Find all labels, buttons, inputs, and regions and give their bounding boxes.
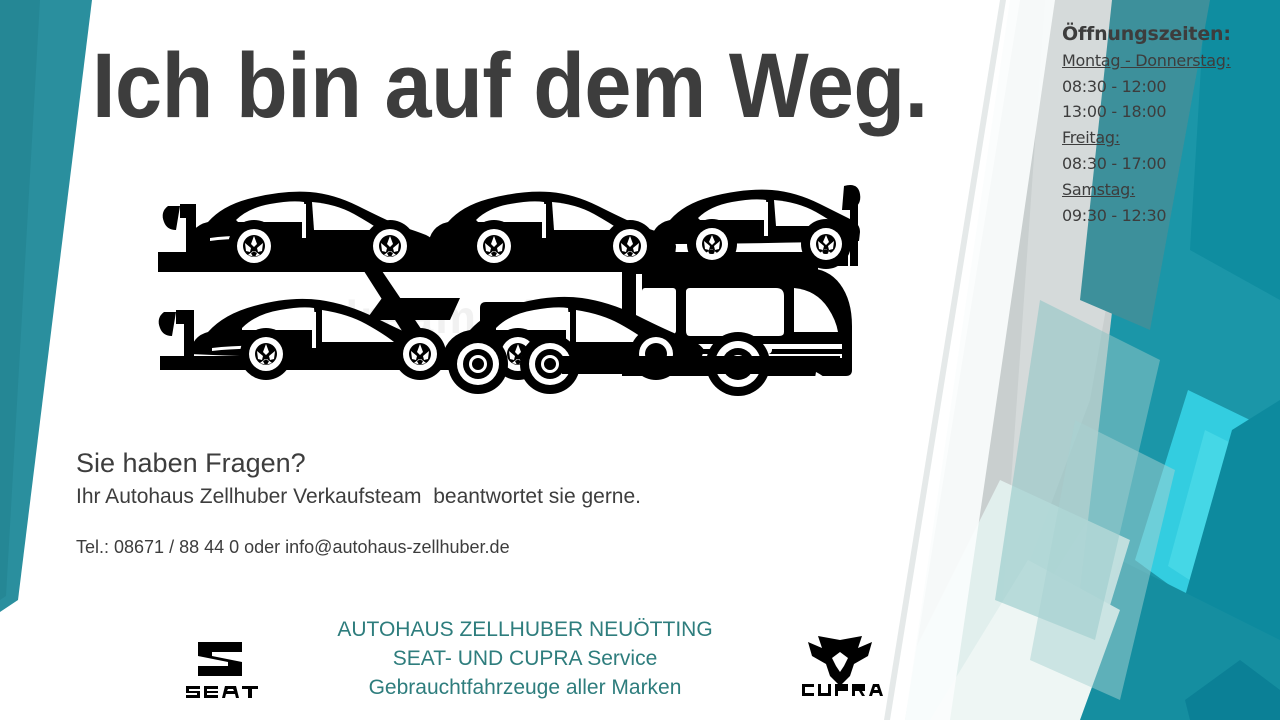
opening-hours-panel: Öffnungszeiten: Montag - Donnerstag: 08:…	[1062, 22, 1278, 229]
facet-white-sliver-2	[905, 0, 1055, 720]
facet-teal-soft	[995, 300, 1160, 640]
lower-deck-left-hook	[159, 312, 176, 336]
facet-deep-teal-lower	[1150, 400, 1280, 720]
contact-telephone: Tel.: 08671 / 88 44 0 oder info@autohaus…	[76, 537, 641, 558]
hours-day-label: Montag - Donnerstag:	[1062, 48, 1278, 74]
left-teal-wedge-shade	[0, 0, 40, 600]
facet-teal-bottom	[1060, 560, 1280, 720]
facet-cyan-accent-2	[1168, 430, 1255, 590]
cupra-wordmark	[802, 684, 883, 696]
cupra-emblem	[808, 636, 872, 686]
footer-line-1: AUTOHAUS ZELLHUBER NEUÖTTING	[290, 616, 760, 645]
contact-block: Sie haben Fragen? Ihr Autohaus Zellhuber…	[76, 446, 641, 558]
contact-question: Sie haben Fragen?	[76, 446, 641, 481]
hours-time: 13:00 - 18:00	[1062, 99, 1278, 125]
facet-teal-soft-2	[1030, 420, 1175, 700]
seat-wordmark	[186, 686, 258, 698]
hours-day-label: Samstag:	[1062, 177, 1278, 203]
page-title: Ich bin auf dem Weg.	[92, 38, 856, 135]
opening-hours-title: Öffnungszeiten:	[1062, 22, 1278, 48]
hours-time: 08:30 - 12:00	[1062, 74, 1278, 100]
hours-time: 09:30 - 12:30	[1062, 203, 1278, 229]
upper-deck-left-hook	[163, 206, 180, 230]
facet-cyan-accent	[1135, 390, 1250, 600]
footer-line-3: Gebrauchtfahrzeuge aller Marken	[290, 674, 760, 703]
loading-ramp-arm	[366, 298, 460, 320]
footer-company-info: AUTOHAUS ZELLHUBER NEUÖTTING SEAT- UND C…	[290, 616, 760, 703]
seat-s-mark	[198, 642, 242, 676]
contact-subtitle: Ihr Autohaus Zellhuber Verkaufsteam bean…	[76, 483, 641, 511]
hours-day-label: Freitag:	[1062, 125, 1278, 151]
facet-teal-tip-bottom	[1185, 660, 1280, 720]
facet-mint-2	[930, 560, 1120, 720]
facet-mint-1	[880, 480, 1130, 720]
opening-hours-list: Montag - Donnerstag: 08:30 - 12:00 13:00…	[1062, 48, 1278, 229]
cupra-logo	[788, 634, 892, 700]
slide-canvas: Ich bin auf dem Weg. dreamstime	[0, 0, 1280, 720]
seat-logo	[168, 638, 272, 700]
footer-line-2: SEAT- UND CUPRA Service	[290, 645, 760, 674]
car-transporter-illustration	[150, 168, 870, 400]
hours-time: 08:30 - 17:00	[1062, 151, 1278, 177]
